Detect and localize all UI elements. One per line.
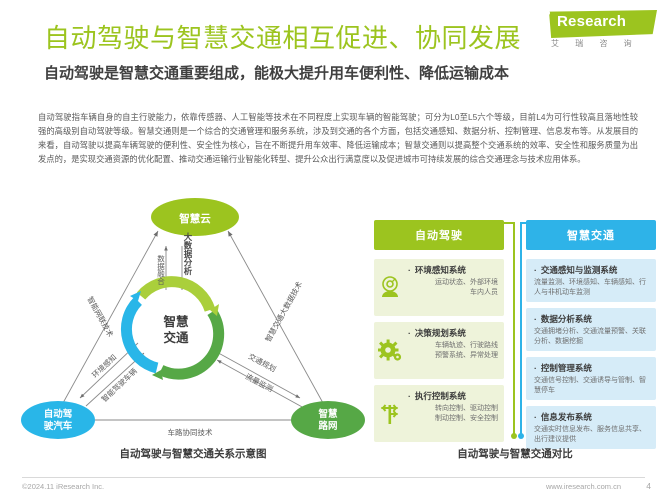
rail-top-green <box>504 222 515 224</box>
iresearch-logo: i Research 艾 瑞 咨 询 <box>537 10 657 52</box>
node-cloud-label: 智慧云 <box>178 212 211 225</box>
intro-paragraph: 自动驾驶指车辆自身的自主行驶能力，依靠传感器、人工智能等技术在不同程度上实现车辆… <box>38 110 638 166</box>
card-desc: 车辆轨迹、行驶路线 预警系统、异常处理 <box>404 341 500 360</box>
camera-sensor-icon <box>378 275 402 301</box>
card-desc: 交通拥堵分析、交通流量预警、关联分析、数据挖掘 <box>534 327 652 346</box>
bullet-icon: · <box>534 363 537 373</box>
node-roadnet-label-2: 路网 <box>318 420 337 432</box>
node-roadnet-label-1: 智慧 <box>318 408 338 420</box>
node-roadnet[interactable] <box>291 401 365 439</box>
connector-rail-blue <box>520 222 522 436</box>
card-title: ·执行控制系统 <box>404 390 500 402</box>
bullet-icon: · <box>534 314 537 324</box>
edge-label-smart-traffic-bigdata-tech: 智慧交通大数据技术 <box>263 279 305 343</box>
connector-rail-green <box>513 222 515 436</box>
card-title-text: 控制管理系统 <box>541 363 592 373</box>
list-item[interactable]: ·信息发布系统 交通实时信息发布、服务信息共享、出行建议提供 <box>526 406 656 449</box>
footer-copyright: ©2024.11 iResearch Inc. <box>22 482 104 491</box>
column-header-autonomous-driving: 自动驾驶 <box>374 220 504 250</box>
card-title: ·控制管理系统 <box>534 362 652 374</box>
card-title: ·数据分析系统 <box>534 313 652 325</box>
edge-label-traffic-planning: 交通规划 <box>247 351 278 374</box>
footer-divider <box>22 477 645 478</box>
comparison-caption: 自动驾驶与智慧交通对比 <box>374 446 656 461</box>
card-title: ·决策规划系统 <box>404 327 500 339</box>
footer-page-number: 4 <box>646 481 651 491</box>
comparison-table: 自动驾驶 ·环境感知系统 运动状态、外部环境 车内人员 <box>374 220 656 448</box>
bullet-icon: · <box>408 391 411 401</box>
column-header-smart-traffic: 智慧交通 <box>526 220 656 250</box>
list-item[interactable]: ·决策规划系统 车辆轨迹、行驶路线 预警系统、异常处理 <box>374 322 504 379</box>
page-title: 自动驾驶与智慧交通相互促进、协同发展 <box>44 23 521 53</box>
header: 自动驾驶与智慧交通相互促进、协同发展 自动驾驶是智慧交通重要组成，能极大提升用车… <box>0 0 667 100</box>
logo-wordmark: Research <box>557 13 626 30</box>
gears-icon <box>378 338 402 364</box>
card-title: ·环境感知系统 <box>404 264 500 276</box>
column-smart-traffic: 智慧交通 ·交通感知与监测系统 流量监测、环境感知、车辆感知、行人与非机动车监测… <box>526 220 656 455</box>
list-item[interactable]: ·执行控制系统 转向控制、驱动控制 制动控制、安全控制 <box>374 385 504 442</box>
list-item[interactable]: ·数据分析系统 交通拥堵分析、交通流量预警、关联分析、数据挖掘 <box>526 308 656 351</box>
card-title-text: 执行控制系统 <box>415 391 466 401</box>
diagram-caption: 自动驾驶与智慧交通关系示意图 <box>18 446 368 461</box>
bullet-icon: · <box>408 265 411 275</box>
list-item[interactable]: ·交通感知与监测系统 流量监测、环境感知、车辆感知、行人与非机动车监测 <box>526 259 656 302</box>
edge-label-flow-monitoring: 流量监测 <box>244 371 275 394</box>
footer-website: www.iresearch.com.cn <box>546 482 621 491</box>
edge-label-data-fusion: 数据融合 <box>156 254 165 286</box>
card-desc: 运动状态、外部环境 车内人员 <box>404 278 500 297</box>
card-desc: 交通信号控制、交通诱导与管制、智慧停车 <box>534 376 652 395</box>
center-label-line2: 交通 <box>163 330 189 345</box>
rail-dot-green-icon <box>511 433 517 439</box>
logo-chinese-name: 艾 瑞 咨 询 <box>551 38 655 49</box>
card-title-text: 环境感知系统 <box>415 265 466 275</box>
card-desc: 交通实时信息发布、服务信息共享、出行建议提供 <box>534 425 652 444</box>
list-item[interactable]: ·环境感知系统 运动状态、外部环境 车内人员 <box>374 259 504 316</box>
bullet-icon: · <box>534 412 537 422</box>
list-item[interactable]: ·控制管理系统 交通信号控制、交通诱导与管制、智慧停车 <box>526 357 656 400</box>
node-vehicle-label-1: 自动驾 <box>44 408 73 420</box>
card-desc: 转向控制、驱动控制 制动控制、安全控制 <box>404 404 500 423</box>
diagram-svg: 智慧 交通 智慧云 自动驾 驶汽车 智慧 路网 数据融合 大数据分析 智能网联技… <box>18 198 368 448</box>
card-title-text: 信息发布系统 <box>541 412 592 422</box>
card-title: ·交通感知与监测系统 <box>534 264 652 276</box>
bullet-icon: · <box>534 265 537 275</box>
edge-vehicle-cloud <box>63 231 158 403</box>
slide-page: 自动驾驶与智慧交通相互促进、协同发展 自动驾驶是智慧交通重要组成，能极大提升用车… <box>0 0 667 500</box>
node-vehicle-label-2: 驶汽车 <box>44 420 73 432</box>
card-title-text: 决策规划系统 <box>415 328 466 338</box>
center-label-line1: 智慧 <box>162 314 189 329</box>
card-title-text: 数据分析系统 <box>541 314 592 324</box>
logo-i-letter: i <box>545 12 552 36</box>
node-vehicle[interactable] <box>21 401 95 439</box>
page-subtitle: 自动驾驶是智慧交通重要组成，能极大提升用车便利性、降低运输成本 <box>44 64 509 83</box>
card-title: ·信息发布系统 <box>534 411 652 423</box>
column-autonomous-driving: 自动驾驶 ·环境感知系统 运动状态、外部环境 车内人员 <box>374 220 504 448</box>
edge-label-intelligent-connected-tech: 智能网联技术 <box>85 294 116 339</box>
direction-sign-icon <box>378 401 402 427</box>
card-desc: 流量监测、环境感知、车辆感知、行人与非机动车监测 <box>534 278 652 297</box>
card-title-text: 交通感知与监测系统 <box>541 265 618 275</box>
edge-label-vehicle-road-coop-tech: 车路协同技术 <box>168 427 213 437</box>
smart-traffic-card-list: ·交通感知与监测系统 流量监测、环境感知、车辆感知、行人与非机动车监测 ·数据分… <box>526 259 656 449</box>
bullet-icon: · <box>408 328 411 338</box>
edge-label-big-data-analysis: 大数据分析 <box>183 232 193 276</box>
autonomous-driving-card-list: ·环境感知系统 运动状态、外部环境 车内人员 <box>374 259 504 442</box>
relationship-diagram: 智慧 交通 智慧云 自动驾 驶汽车 智慧 路网 数据融合 大数据分析 智能网联技… <box>18 198 368 448</box>
rail-dot-blue-icon <box>518 433 524 439</box>
